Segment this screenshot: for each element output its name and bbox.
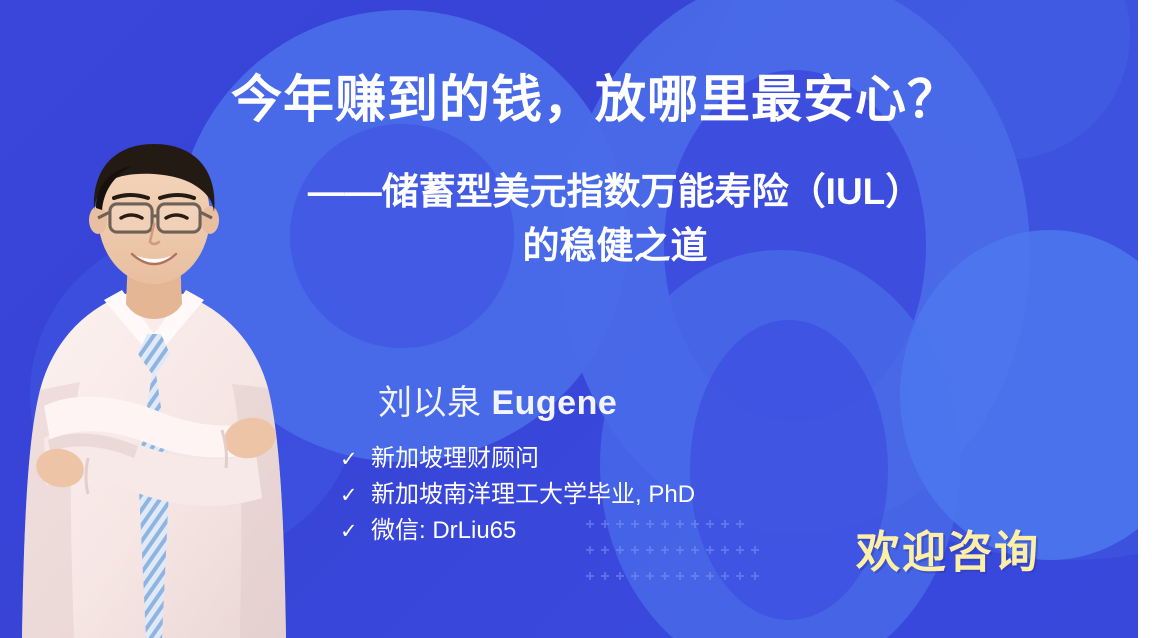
check-icon: ✓ <box>340 445 371 475</box>
presenter-name: 刘以泉 Eugene <box>378 375 617 424</box>
poster-subtitle-line-1: ——储蓄型美元指数万能寿险（IUL） <box>200 165 1030 219</box>
list-item: ✓ 微信: DrLiu65 <box>340 514 695 548</box>
credential-wechat: 微信: DrLiu65 <box>371 514 516 548</box>
poster-root: 今年赚到的钱，放哪里最安心？ ——储蓄型美元指数万能寿险（IUL） 的稳健之道 … <box>0 0 1156 638</box>
presenter-name-cn: 刘以泉 <box>378 384 482 422</box>
right-margin-strip <box>1138 0 1156 638</box>
list-item: ✓ 新加坡南洋理工大学毕业, PhD <box>340 478 695 512</box>
poster-canvas: 今年赚到的钱，放哪里最安心？ ——储蓄型美元指数万能寿险（IUL） 的稳健之道 … <box>0 0 1138 638</box>
credential-text: 新加坡理财顾问 <box>371 442 539 476</box>
cta-welcome-consult: 欢迎咨询 <box>856 516 1040 580</box>
presenter-name-en: Eugene <box>491 384 617 422</box>
poster-subtitle-line-2: 的稳健之道 <box>200 219 1030 273</box>
poster-subtitle: ——储蓄型美元指数万能寿险（IUL） 的稳健之道 <box>200 165 1030 272</box>
credentials-list: ✓ 新加坡理财顾问 ✓ 新加坡南洋理工大学毕业, PhD ✓ 微信: DrLiu… <box>340 442 695 550</box>
credential-text: 新加坡南洋理工大学毕业, PhD <box>371 478 695 512</box>
list-item: ✓ 新加坡理财顾问 <box>340 442 695 476</box>
check-icon: ✓ <box>340 481 371 511</box>
check-icon: ✓ <box>340 517 371 547</box>
poster-headline: 今年赚到的钱，放哪里最安心？ <box>160 72 1030 127</box>
